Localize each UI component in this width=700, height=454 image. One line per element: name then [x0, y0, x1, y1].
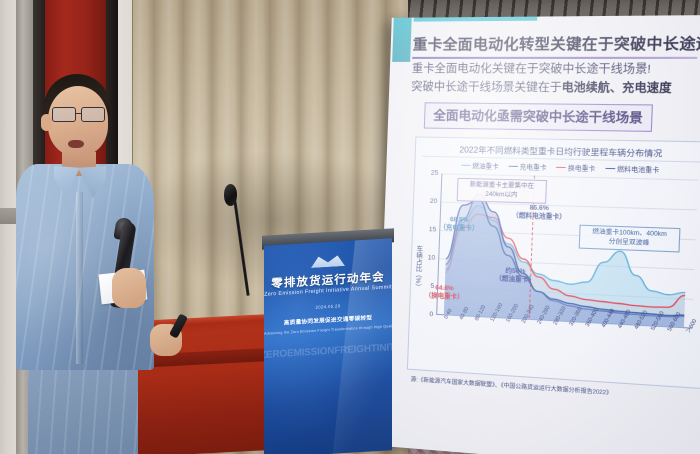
presentation-slide: 重卡全面电动化转型关键在于突破中长途运 重卡全面电动化关键在于突破中长途干线场景…	[376, 15, 700, 454]
legend-swatch-3	[605, 168, 615, 170]
eyeglasses-icon	[49, 107, 109, 123]
slide-subtitle-2: 突破中长途干线场景关键在于电池续航、充电速度	[411, 79, 700, 98]
speaker-shirt-placket	[76, 192, 83, 364]
speaker-hand-left	[112, 268, 146, 308]
conference-photo-scene: 重卡全面电动化转型关键在于突破中长途运 重卡全面电动化关键在于突破中长途干线场景…	[0, 0, 700, 454]
label-648-note: （换电重卡）	[425, 293, 464, 303]
podium: 零排放货运行动年会 Zero Emission Freight Initiati…	[262, 232, 394, 454]
legend-item-1: 充电重卡	[508, 162, 547, 172]
y-tick-0: 0	[429, 311, 433, 318]
y-tick-4: 20	[430, 198, 438, 205]
label-856: 85.6% （燃料电池重卡）	[512, 204, 567, 223]
callout-fuel-peaks: 燃油重卡100km、400km 分创呈双波峰	[579, 225, 681, 253]
slide-headline-rule	[412, 56, 697, 58]
label-685-note: （充电重卡）	[439, 224, 479, 234]
eyeglasses-bridge	[76, 113, 82, 114]
podium-front-panel: 零排放货运行动年会 Zero Emission Freight Initiati…	[264, 238, 392, 454]
legend-swatch-1	[508, 166, 517, 168]
y-tick-2: 10	[428, 254, 436, 261]
slide-headline: 重卡全面电动化转型关键在于突破中长途运	[412, 36, 700, 54]
label-648: 64.8% （换电重卡）	[425, 284, 465, 303]
y-tick-5: 25	[431, 170, 439, 177]
label-50: 约50% （燃油重卡）	[495, 267, 536, 286]
speaker-person	[8, 56, 248, 454]
eyeglasses-lens-left	[52, 107, 76, 122]
label-685: 68.5% （充电重卡）	[439, 216, 479, 234]
slide-highlight-text: 全面电动化亟需突破中长途干线场景	[433, 109, 643, 126]
speaker-mouth	[68, 140, 84, 148]
legend-item-3: 燃料电池重卡	[605, 164, 660, 175]
legend-label-3: 燃料电池重卡	[617, 164, 660, 174]
chart-x-ticks: 0-4040-8080-120120-160160-200200-240240-…	[435, 317, 693, 373]
y-tick-3: 15	[429, 226, 437, 233]
legend-item-2: 换电重卡	[556, 163, 596, 173]
chart-plot-area: 车辆占比（%） 0510152025 0-4040-8080-120120-16…	[408, 171, 700, 375]
legend-label-2: 换电重卡	[568, 163, 596, 173]
eyeglasses-lens-right	[81, 107, 105, 122]
slide-subtitle-2-prefix: 突破中长途干线场景关键在于	[411, 81, 562, 94]
slide-subtitle-2-bold: 电池续航、充电速度	[561, 82, 671, 95]
legend-swatch-2	[556, 167, 566, 169]
speaker-trousers-folds	[28, 356, 138, 454]
callout-newenergy: 新能源重卡主要集中在 240km以内	[457, 178, 547, 204]
legend-label-1: 充电重卡	[519, 162, 546, 172]
label-856-note: （燃料电池重卡）	[512, 213, 566, 223]
legend-item-0: 燃油重卡	[461, 161, 499, 171]
legend-label-0: 燃油重卡	[472, 161, 499, 171]
chart-container: 2022年不同燃料类型重卡日均行驶里程车辆分布情况 燃油重卡充电重卡换电重卡燃料…	[407, 137, 700, 390]
slide-highlight-box: 全面电动化亟需突破中长途干线场景	[424, 102, 653, 132]
legend-swatch-0	[461, 165, 470, 167]
slide-accent-bar	[392, 18, 412, 62]
slide-subtitle-1: 重卡全面电动化关键在于突破中长途干线场景!	[412, 61, 700, 79]
chart-y-axis-label: 车辆占比（%）	[413, 245, 424, 290]
slide-accent-line	[414, 17, 538, 22]
label-50-note: （燃油重卡）	[495, 276, 535, 286]
